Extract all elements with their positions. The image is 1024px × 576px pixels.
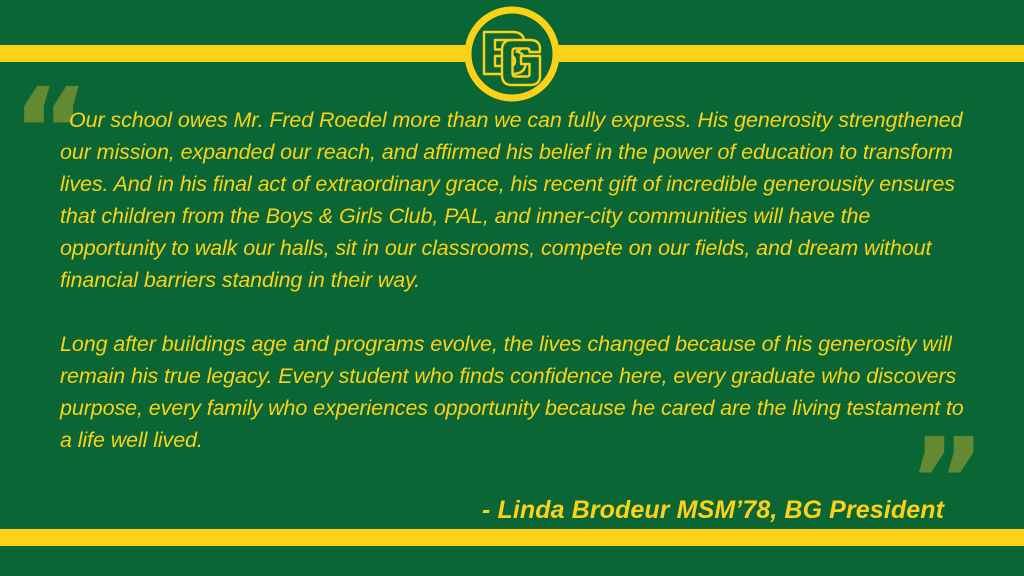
quote-text-block: Our school owes Mr. Fred Roedel more tha… [60, 104, 980, 456]
quote-paragraph: Long after buildings age and programs ev… [60, 328, 980, 456]
bg-monogram-logo [464, 6, 560, 102]
quote-graphic: “ ” Our school owes Mr. Fred Roedel more… [0, 0, 1024, 576]
quote-paragraph: Our school owes Mr. Fred Roedel more tha… [60, 104, 980, 296]
quote-attribution: - Linda Brodeur MSM’78, BG President [0, 494, 944, 526]
bottom-accent-rule [0, 529, 1024, 546]
